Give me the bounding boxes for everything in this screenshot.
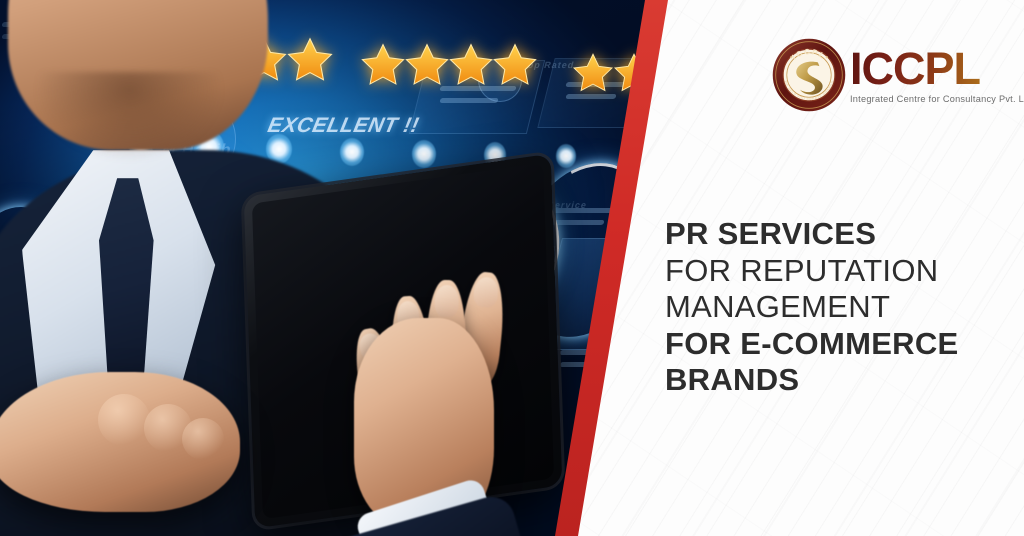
fingernail [434,285,459,317]
headline-line-1: PR SERVICES [665,216,959,253]
star-icon [570,50,616,96]
headline-line-2: FOR REPUTATION [665,253,959,290]
hero-photo: SUPERB BEST PERFECT EXCELLENT EXCELLENT … [0,0,665,536]
fingernail [472,276,499,308]
star-icon [402,40,452,90]
logo-tagline: Integrated Centre for Consultancy Pvt. L… [850,94,1024,104]
headline-line-4: FOR E-COMMERCE [665,326,959,363]
star-icon [446,40,496,90]
headline-line-3: MANAGEMENT [665,289,959,326]
star-icon [490,40,540,90]
logo-wordmark: ICCPL [850,46,1024,91]
knuckle [182,418,224,460]
knuckle [98,394,150,446]
promotional-banner: SUPERB BEST PERFECT EXCELLENT EXCELLENT … [0,0,1024,536]
glow-dot [412,140,436,168]
left-fist [0,372,240,512]
right-hand [330,240,560,536]
iccpl-emblem-icon: ICCPL WE HELP YOU CREATE BRANDS [772,38,846,112]
glow-dot [556,144,576,168]
chin-shadow [34,72,224,162]
logo-text-block: ICCPL Integrated Centre for Consultancy … [850,46,1024,104]
headline-line-5: BRANDS [665,362,959,399]
iccpl-logo[interactable]: ICCPL WE HELP YOU CREATE BRANDS ICCPL In… [772,38,1024,112]
headline-block: PR SERVICES FOR REPUTATION MANAGEMENT FO… [665,216,959,399]
